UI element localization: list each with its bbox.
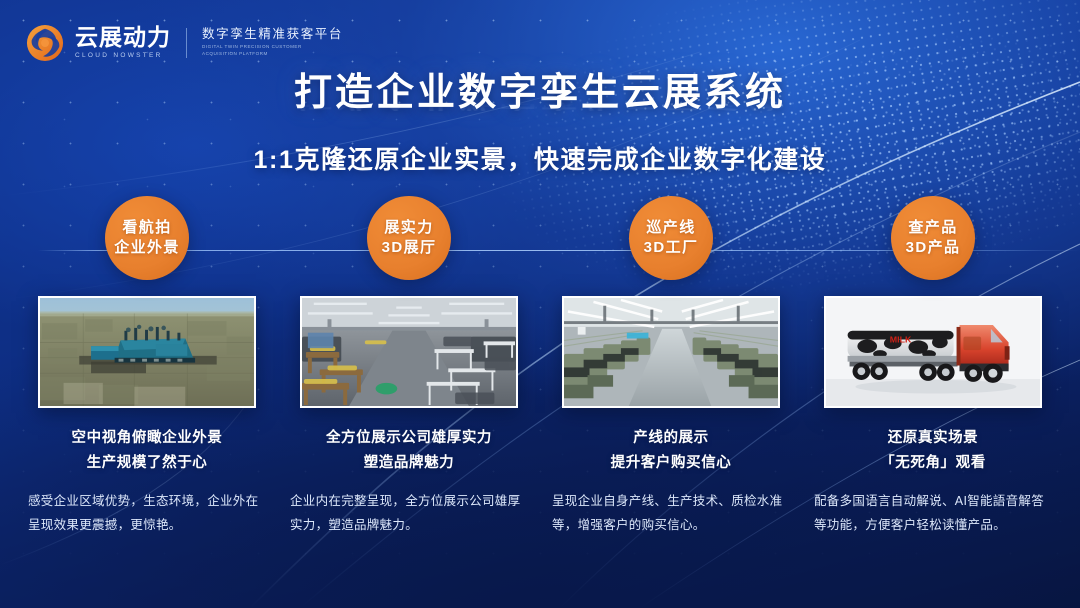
svg-text:MILK: MILK — [890, 334, 912, 344]
badge-label-line1: 看航拍 — [122, 218, 171, 238]
product-truck-thumbnail[interactable]: MILK — [824, 296, 1042, 408]
caption-product: 还原真实场景 「无死角」观看 — [880, 426, 986, 477]
badge-label-line2: 企业外景 — [114, 238, 180, 258]
badge-aerial[interactable]: 看航拍 企业外景 — [105, 196, 189, 280]
body-text-product: 配备多国语言自动解说、AI智能語音解答等功能，方便客户轻松读懂产品。 — [814, 489, 1052, 538]
brand-tagline-zh: 数字孪生精准获客平台 — [202, 28, 343, 41]
page-title-reflection: 打造企业数字孪生云展系统 — [0, 98, 1080, 110]
badge-label-line1: 展实力 — [384, 218, 433, 238]
badge-label-line1: 巡产线 — [646, 218, 695, 238]
feature-column-showroom: 展实力 3D展厅 — [278, 196, 540, 538]
page-subtitle: 1:1克隆还原企业实景，快速完成企业数字化建设 — [0, 145, 1080, 175]
badge-label-line2: 3D产品 — [906, 238, 961, 258]
feature-column-production: 巡产线 3D工厂 — [540, 196, 802, 538]
presentation-slide: 云展动力 CLOUD NOWSTER 数字孪生精准获客平台 DIGITAL TW… — [0, 0, 1080, 608]
body-text-showroom: 企业内在完整呈现，全方位展示公司雄厚实力，塑造品牌魅力。 — [290, 489, 528, 538]
showroom-interior-thumbnail[interactable] — [300, 296, 518, 408]
caption-aerial: 空中视角俯瞰企业外景 生产规模了然于心 — [72, 426, 223, 477]
caption-line1: 产线的展示 — [611, 426, 732, 451]
swirl-logo-icon — [26, 24, 64, 62]
body-text-aerial: 感受企业区域优势，生态环境，企业外在呈现效果更震撼，更惊艳。 — [28, 489, 266, 538]
title-block: 打造企业数字孪生云展系统 打造企业数字孪生云展系统 1:1克隆还原企业实景，快速… — [0, 72, 1080, 175]
badge-showroom[interactable]: 展实力 3D展厅 — [367, 196, 451, 280]
caption-line1: 空中视角俯瞰企业外景 — [72, 426, 223, 451]
logo-divider — [186, 28, 187, 58]
badge-label-line2: 3D工厂 — [644, 238, 699, 258]
badge-label-line2: 3D展厅 — [382, 238, 437, 258]
brand-name-zh: 云展动力 — [75, 26, 171, 49]
caption-line1: 还原真实场景 — [880, 426, 986, 451]
body-text-production: 呈现企业自身产线、生产技术、质检水准等，增强客户的购买信心。 — [552, 489, 790, 538]
caption-line2: 提升客户购买信心 — [611, 451, 732, 476]
caption-line2: 生产规模了然于心 — [72, 451, 223, 476]
feature-column-aerial: 看航拍 企业外景 — [16, 196, 278, 538]
badge-product[interactable]: 查产品 3D产品 — [891, 196, 975, 280]
caption-line1: 全方位展示公司雄厚实力 — [326, 426, 492, 451]
badge-label-line1: 查产品 — [908, 218, 957, 238]
feature-columns: 看航拍 企业外景 — [0, 196, 1080, 538]
aerial-factory-thumbnail[interactable] — [38, 296, 256, 408]
brand-tagline-en: DIGITAL TWIN PRECISION CUSTOMER ACQUISIT… — [202, 44, 330, 58]
caption-line2: 「无死角」观看 — [880, 451, 986, 476]
caption-line2: 塑造品牌魅力 — [326, 451, 492, 476]
feature-column-product: 查产品 3D产品 — [802, 196, 1064, 538]
caption-showroom: 全方位展示公司雄厚实力 塑造品牌魅力 — [326, 426, 492, 477]
caption-production: 产线的展示 提升客户购买信心 — [611, 426, 732, 477]
brand-logo-bar: 云展动力 CLOUD NOWSTER 数字孪生精准获客平台 DIGITAL TW… — [26, 24, 343, 62]
brand-name-en: CLOUD NOWSTER — [75, 53, 171, 60]
badge-production[interactable]: 巡产线 3D工厂 — [629, 196, 713, 280]
production-line-thumbnail[interactable] — [562, 296, 780, 408]
